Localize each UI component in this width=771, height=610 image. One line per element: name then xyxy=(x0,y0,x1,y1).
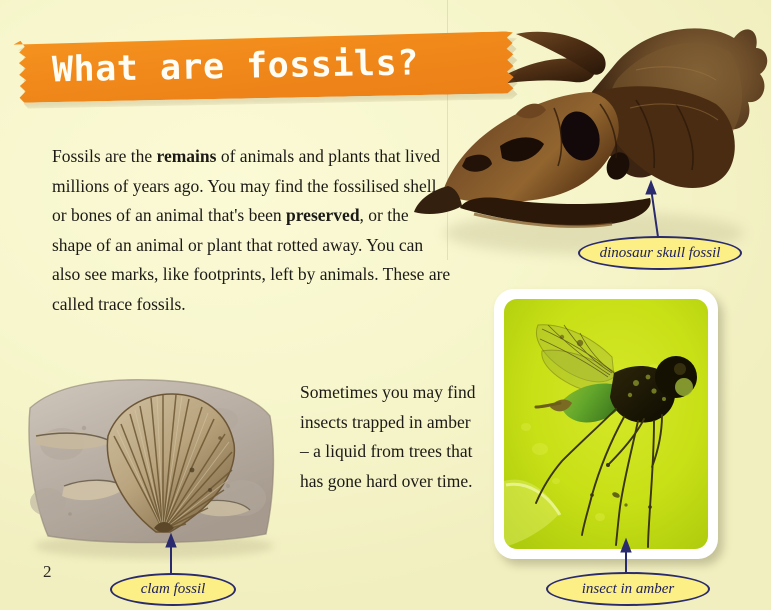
caption-dinosaur-label: dinosaur skull fossil xyxy=(600,245,721,262)
caption-insect-label: insect in amber xyxy=(582,581,674,598)
caption-clam-label: clam fossil xyxy=(141,581,206,598)
caption-insect-in-amber: insect in amber xyxy=(546,572,710,606)
fossil-book-page: What are fossils? Fossils are the remain… xyxy=(0,0,771,610)
caption-dinosaur-skull-fossil: dinosaur skull fossil xyxy=(578,236,742,270)
caption-clam-fossil: clam fossil xyxy=(110,573,236,606)
caption-leader-lines xyxy=(0,0,771,610)
